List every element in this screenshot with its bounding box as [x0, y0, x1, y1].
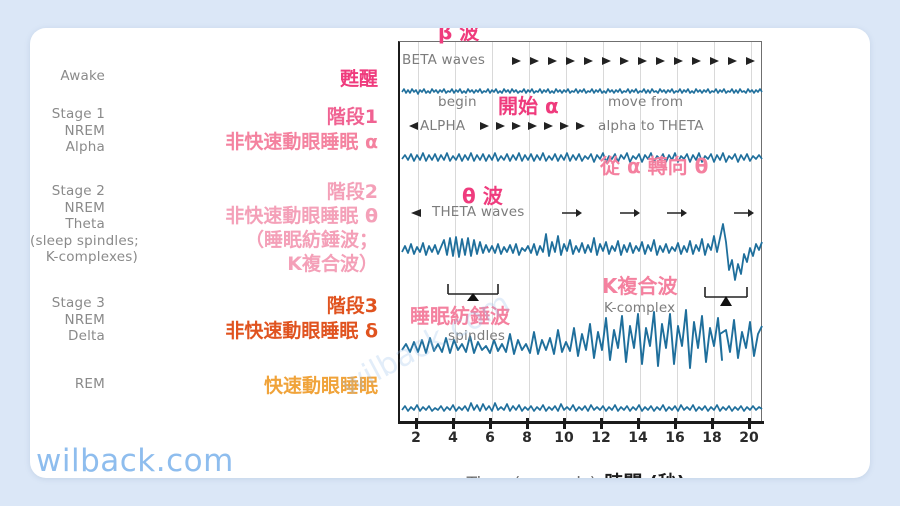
annotation-spindles-en: spindles: [448, 328, 505, 344]
x-axis-title-en: Time (seconds): [467, 474, 597, 478]
annotation-spindles-zh: 睡眠紡錘波: [410, 300, 510, 329]
x-tick-label: 8: [512, 430, 542, 446]
x-tick-label: 16: [660, 430, 690, 446]
stage-label-stage1: Stage 1 NREM Alpha 階段1 非快速動眼睡眠 α: [30, 106, 390, 153]
stage-label-stage3: Stage 3 NREM Delta 階段3 非快速動眼睡眠 δ: [30, 295, 390, 342]
x-tick: [748, 418, 751, 429]
x-tick: [563, 418, 566, 429]
x-tick: [674, 418, 677, 429]
wave-rem: [400, 394, 764, 420]
alpha-arrow-left: [408, 121, 420, 131]
theta-arrow-markers: [562, 208, 758, 218]
stage-label-column: Awake 甦醒 Stage 1 NREM Alpha 階段1 非快速動眼睡眠 …: [30, 28, 390, 478]
x-tick-label: 18: [697, 430, 727, 446]
site-watermark: wilback.com: [36, 443, 234, 479]
beta-arrow-row: [512, 56, 760, 66]
annotation-move-from-en: move from: [608, 94, 683, 110]
screenshot-root: Awake 甦醒 Stage 1 NREM Alpha 階段1 非快速動眼睡眠 …: [0, 0, 900, 506]
x-tick-label: 12: [586, 430, 616, 446]
x-tick-label: 2: [401, 430, 431, 446]
annotation-alpha-en: ALPHA: [420, 118, 465, 134]
annotation-alpha-zh: 開始 α: [498, 90, 559, 119]
annotation-kcomplex-en: K-complex: [604, 300, 675, 316]
x-tick: [489, 418, 492, 429]
stage-label-awake: Awake 甦醒: [30, 68, 390, 90]
eeg-figure-card: Awake 甦醒 Stage 1 NREM Alpha 階段1 非快速動眼睡眠 …: [30, 28, 870, 478]
x-tick-label: 6: [475, 430, 505, 446]
x-tick: [452, 418, 455, 429]
plot-area: β 波 BETA waves: [398, 41, 762, 421]
x-tick: [637, 418, 640, 429]
kcomplex-bracket: [703, 285, 749, 295]
stage-label-stage2: Stage 2 NREM Theta (sleep spindles; K-co…: [30, 183, 390, 275]
theta-arrow-left: [410, 208, 424, 218]
x-tick: [415, 418, 418, 429]
annotation-alpha-to-theta-en: alpha to THETA: [598, 118, 704, 134]
spindles-bracket: [446, 282, 500, 292]
x-tick: [526, 418, 529, 429]
wave-stage1: [400, 142, 764, 172]
x-tick-label: 10: [549, 430, 579, 446]
annotation-beta-en: BETA waves: [402, 52, 485, 68]
annotation-alpha-to-theta-zh: 從 α 轉向 θ: [600, 150, 708, 179]
eeg-chart: β 波 BETA waves: [398, 28, 870, 478]
annotation-theta-en: THETA waves: [432, 204, 525, 220]
x-tick-label: 20: [734, 430, 764, 446]
stage-label-rem: REM 快速動眼睡眠: [30, 376, 390, 397]
x-tick: [711, 418, 714, 429]
annotation-kcomplex-zh: K複合波: [602, 270, 678, 299]
x-axis-title: Time (seconds)時間 (秒): [376, 468, 776, 478]
wave-stage2: [400, 222, 764, 288]
annotation-begin-en: begin: [438, 94, 477, 110]
alpha-arrow-row: [480, 121, 598, 131]
x-axis-title-zh: 時間 (秒): [604, 472, 685, 478]
x-tick: [600, 418, 603, 429]
annotation-beta-zh: β 波: [438, 28, 479, 45]
x-tick-label: 4: [438, 430, 468, 446]
x-tick-label: 14: [623, 430, 653, 446]
